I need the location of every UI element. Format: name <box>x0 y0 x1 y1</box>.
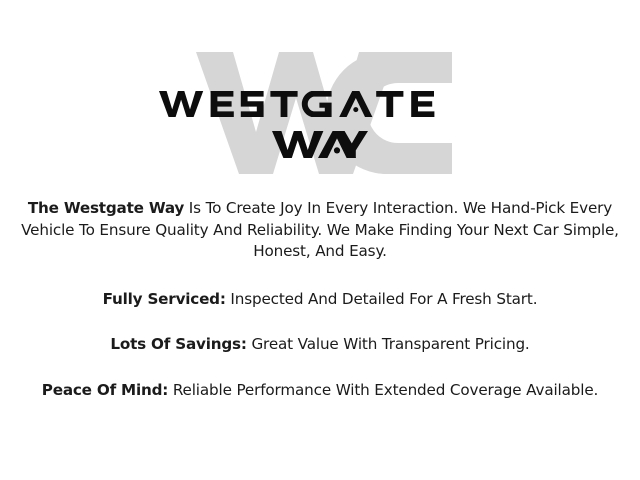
benefit-label-peace-of-mind: Peace Of Mind: <box>42 381 168 399</box>
intro-lead: The Westgate Way <box>28 199 184 217</box>
benefit-label-lots-of-savings: Lots Of Savings: <box>110 335 246 353</box>
wordmark-way <box>272 130 368 159</box>
benefit-label-fully-serviced: Fully Serviced: <box>103 290 226 308</box>
brand-logo-lockup <box>0 46 640 178</box>
wordmark-group <box>0 46 640 178</box>
benefit-text-lots-of-savings: Great Value With Transparent Pricing. <box>247 335 530 353</box>
benefit-text-peace-of-mind: Reliable Performance With Extended Cover… <box>168 381 598 399</box>
benefit-text-fully-serviced: Inspected And Detailed For A Fresh Start… <box>226 290 538 308</box>
benefit-fully-serviced: Fully Serviced: Inspected And Detailed F… <box>12 289 628 311</box>
value-proposition-copy: The Westgate Way Is To Create Joy In Eve… <box>12 198 628 401</box>
wordmark-westgate <box>159 90 481 118</box>
promo-canvas: The Westgate Way Is To Create Joy In Eve… <box>0 0 640 480</box>
benefit-peace-of-mind: Peace Of Mind: Reliable Performance With… <box>12 380 628 402</box>
benefit-lots-of-savings: Lots Of Savings: Great Value With Transp… <box>12 334 628 356</box>
intro-paragraph: The Westgate Way Is To Create Joy In Eve… <box>12 198 628 263</box>
